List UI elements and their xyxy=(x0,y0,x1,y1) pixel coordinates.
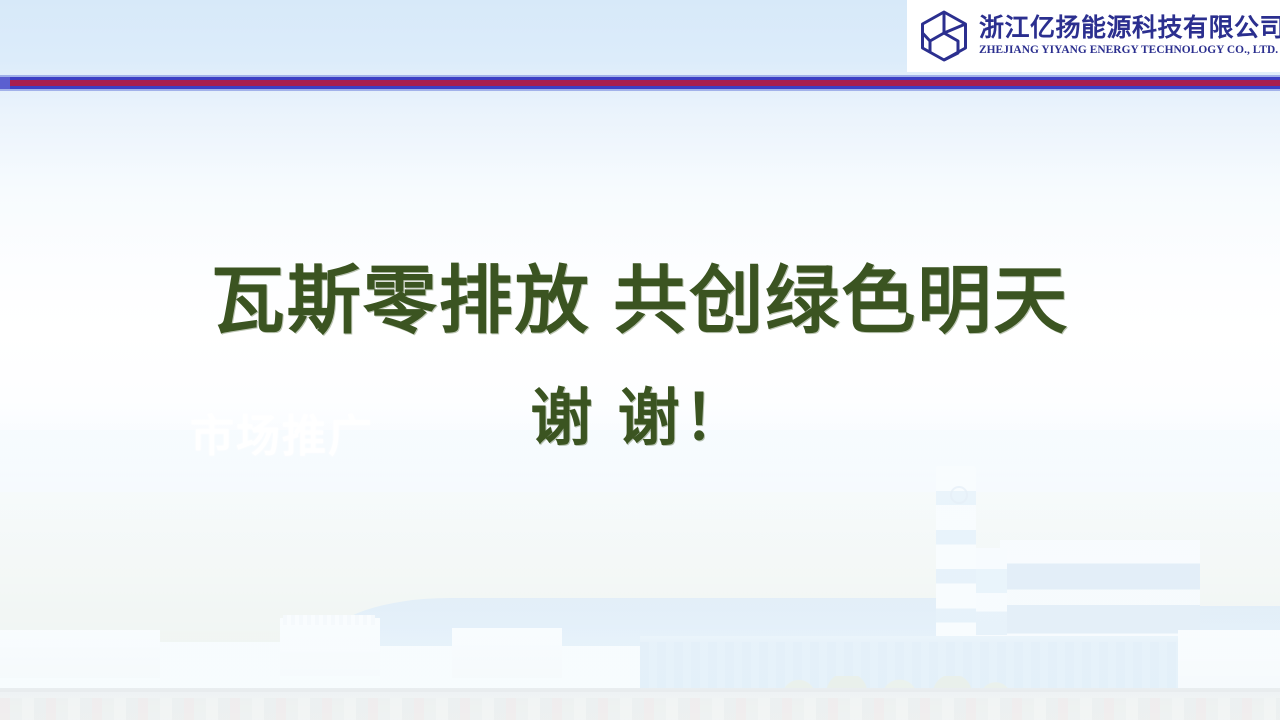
company-logo-text: 浙江亿扬能源科技有限公司 ZHEJIANG YIYANG ENERGY TECH… xyxy=(979,14,1280,58)
photo-office-midright xyxy=(452,628,562,678)
headline-main-title: 瓦斯零排放 共创绿色明天 xyxy=(0,262,1280,340)
photo-office-left xyxy=(0,630,160,678)
company-name-cn: 浙江亿扬能源科技有限公司 xyxy=(979,14,1280,42)
rule-red-band xyxy=(0,80,1280,86)
photo-office-center-roof xyxy=(283,615,375,625)
industrial-plant-photo xyxy=(0,430,1280,720)
company-name-en: ZHEJIANG YIYANG ENERGY TECHNOLOGY CO., L… xyxy=(979,44,1280,58)
headline-thanks: 谢 谢！ xyxy=(0,386,1280,451)
photo-yard-materials xyxy=(0,698,1280,720)
header-divider-rule xyxy=(0,75,1280,91)
headline-block: 瓦斯零排放 共创绿色明天 谢 谢！ xyxy=(0,262,1280,451)
company-logo-plate: 浙江亿扬能源科技有限公司 ZHEJIANG YIYANG ENERGY TECH… xyxy=(907,0,1280,72)
photo-office-right xyxy=(1178,630,1280,696)
hexagon-crystal-logo-icon xyxy=(919,10,969,62)
presentation-slide: 市场推广 瓦斯零排放 共创绿色明天 谢 谢！ 浙江亿扬能源科技有限公司 ZHEJ… xyxy=(0,0,1280,720)
photo-smokestack-logo-icon xyxy=(950,486,968,504)
photo-office-center xyxy=(280,618,380,676)
rule-left-cap xyxy=(0,77,10,89)
